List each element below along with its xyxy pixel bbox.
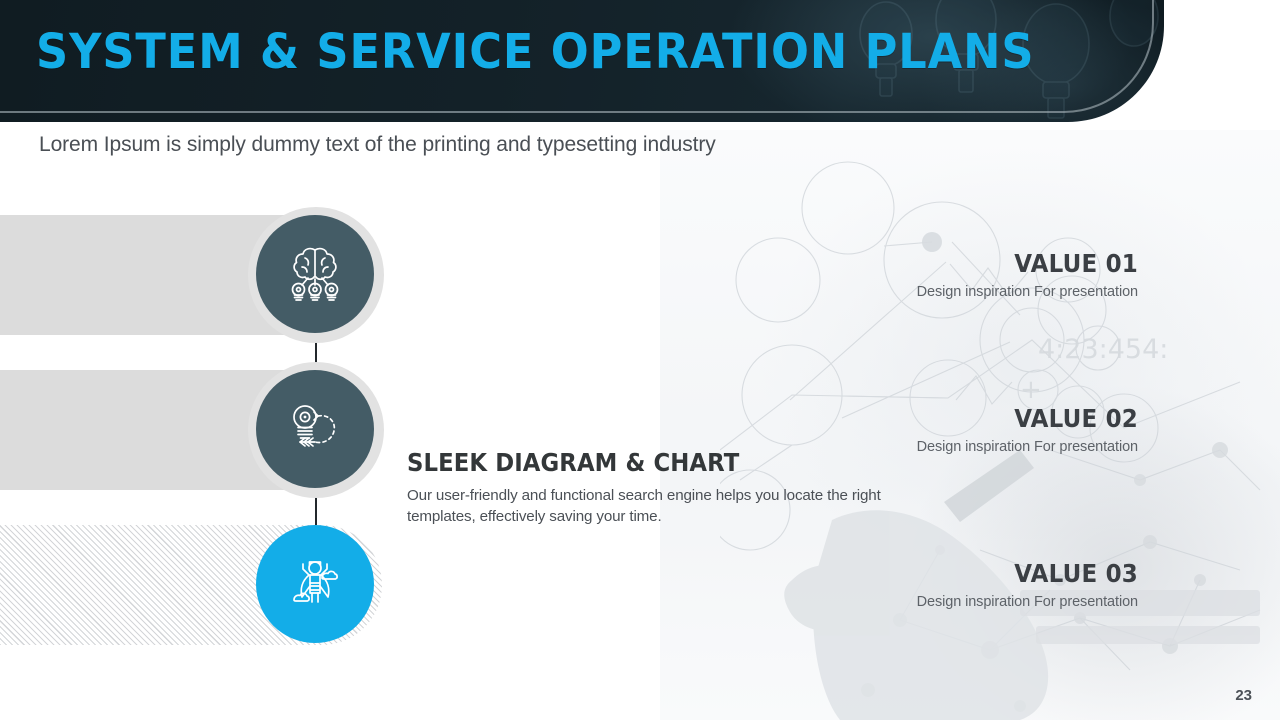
value-pill-text-1: VALUE 01 Design inspiration For presenta… (908, 215, 1138, 335)
detail-block-1: SLEEK DIAGRAM & CHART Our user-friendly … (407, 447, 967, 527)
value-label-3: VALUE 03 (926, 559, 1138, 589)
value-row-3[interactable]: VALUE 03 Design inspiration For presenta… (0, 525, 1280, 645)
slide-subtitle: Lorem Ipsum is simply dummy text of the … (39, 133, 716, 157)
value-pill-text-3: VALUE 03 Design inspiration For presenta… (908, 525, 1138, 645)
slide-canvas: 4:23:454: + SYSTEM (0, 0, 1280, 720)
value-label-2: VALUE 02 (926, 404, 1138, 434)
superhero-cloud-icon[interactable] (256, 525, 374, 643)
value-label-1: VALUE 01 (926, 249, 1138, 279)
detail-title-1: SLEEK DIAGRAM & CHART (407, 447, 928, 479)
page-number: 23 (1235, 687, 1252, 704)
brain-lightbulbs-icon[interactable] (256, 215, 374, 333)
detail-body-1: Our user-friendly and functional search … (407, 485, 942, 527)
value-row-1[interactable]: VALUE 01 Design inspiration For presenta… (0, 215, 1280, 335)
value-sub-3: Design inspiration For presentation (908, 593, 1138, 612)
header-banner: SYSTEM & SERVICE OPERATION PLANS (0, 0, 1164, 122)
lightbulb-refresh-icon[interactable] (256, 370, 374, 488)
page-title: SYSTEM & SERVICE OPERATION PLANS (36, 22, 1034, 82)
value-sub-1: Design inspiration For presentation (908, 283, 1138, 302)
